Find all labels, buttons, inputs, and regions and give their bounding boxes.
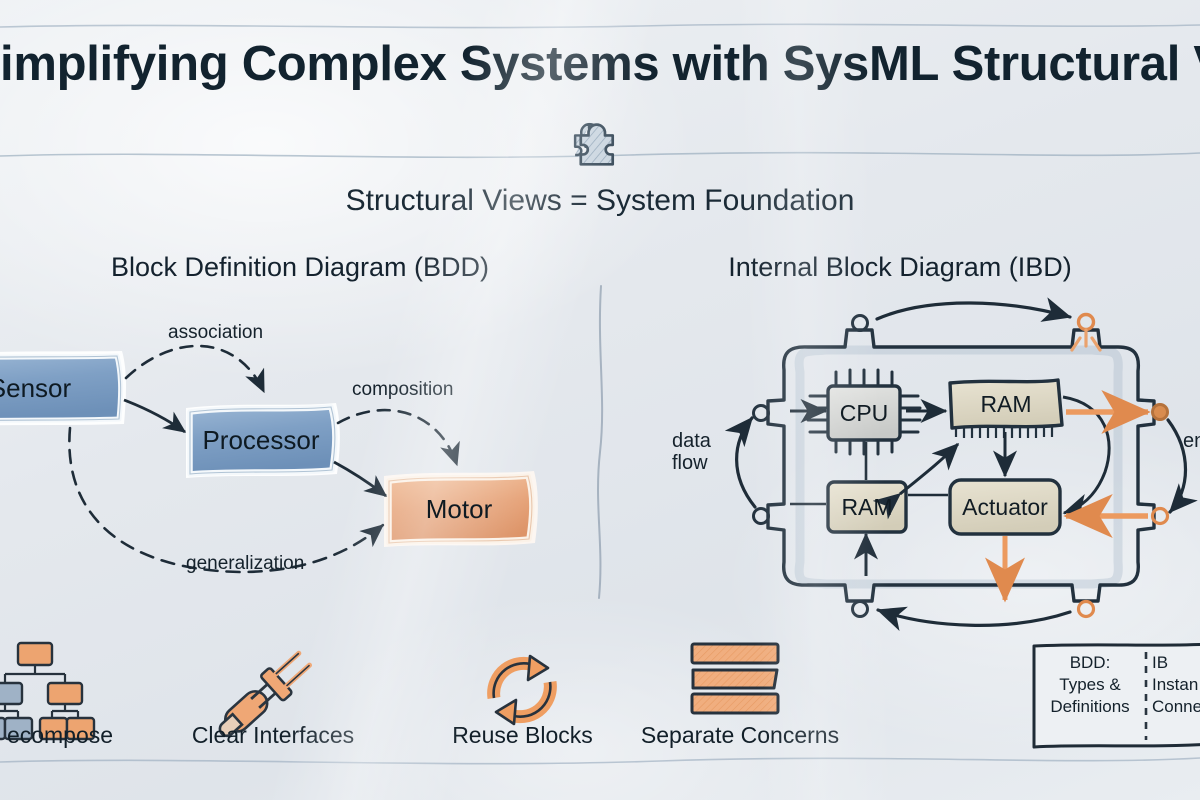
legend-left-line1: BDD:	[1038, 652, 1142, 674]
footer-label-reuse-blocks: Reuse Blocks	[430, 722, 615, 749]
legend-right-line2: Instan	[1152, 674, 1200, 696]
whiteboard-canvas: implifying Complex Systems with SysML St…	[0, 0, 1200, 800]
legend-left-line2: Types &	[1038, 674, 1142, 696]
legend-right-line1: IB	[1152, 652, 1200, 674]
legend-right: IB Instan Conne	[1152, 652, 1200, 717]
footer-label-decompose: ecompose	[0, 722, 150, 749]
ibd-cpu-text: CPU	[840, 400, 889, 427]
ibd-ram-top-text: RAM	[980, 391, 1031, 418]
footer-label-separate-concerns: Separate Concerns	[630, 722, 850, 749]
stacked-layers-icon[interactable]	[692, 644, 778, 713]
footer-item-reuse-blocks[interactable]: Reuse Blocks	[430, 722, 615, 749]
bdd-sensor-text: Sensor	[0, 373, 71, 404]
bdd-motor-text: Motor	[426, 494, 492, 525]
circular-arrows-icon[interactable]	[494, 656, 551, 724]
footer-item-decompose[interactable]: ecompose	[0, 722, 150, 749]
legend-left: BDD: Types & Definitions	[1038, 652, 1142, 717]
legend-right-line3: Conne	[1152, 696, 1200, 718]
footer-label-clear-interfaces: Clear Interfaces	[178, 722, 368, 749]
ibd-actuator-text: Actuator	[962, 494, 1048, 521]
ibd-ram-bottom-text: RAM	[841, 494, 892, 521]
footer-item-clear-interfaces[interactable]: Clear Interfaces	[178, 722, 368, 749]
bdd-processor-text: Processor	[202, 425, 319, 456]
legend-left-line3: Definitions	[1038, 696, 1142, 718]
footer-item-separate-concerns[interactable]: Separate Concerns	[630, 722, 850, 749]
